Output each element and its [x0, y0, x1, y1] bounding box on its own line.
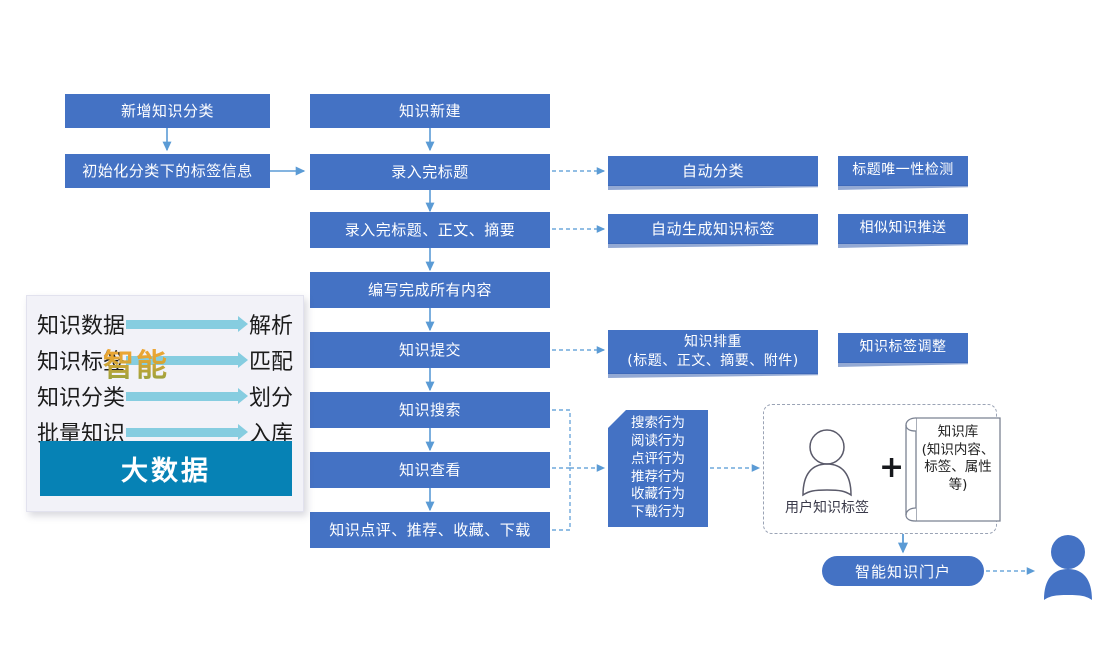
flow-box-label: 录入完标题: [391, 163, 469, 182]
panel-row-parse: 知识数据 解析: [37, 306, 293, 342]
flow-box-knowledge-view[interactable]: 知识查看: [310, 452, 550, 488]
flow-box-label: 知识新建: [399, 102, 461, 121]
flow-box-label: 知识搜索: [399, 401, 461, 420]
flow-box-all-content-written[interactable]: 编写完成所有内容: [310, 272, 550, 308]
flow-box-knowledge-dedup[interactable]: 知识排重 (标题、正文、摘要、附件): [608, 330, 818, 374]
kb-line: 标签、属性: [916, 459, 1000, 477]
flow-box-knowledge-rate-recommend-favorite-download[interactable]: 知识点评、推荐、收藏、下载: [310, 512, 550, 548]
behaviour-line: 搜索行为: [631, 415, 685, 433]
flow-box-knowledge-search[interactable]: 知识搜索: [310, 392, 550, 428]
flow-box-knowledge-tag-adjust[interactable]: 知识标签调整: [838, 333, 968, 363]
behaviour-line: 推荐行为: [631, 469, 685, 487]
end-user-filled-icon: [1044, 535, 1092, 600]
flow-box-label: 自动分类: [682, 162, 744, 181]
panel-bigdata-label: 大数据: [121, 449, 211, 488]
diagram-canvas: 新增知识分类 初始化分类下的标签信息 知识新建 录入完标题 录入完标题、正文、摘…: [0, 0, 1110, 649]
behaviour-line: 点评行为: [631, 451, 685, 469]
flow-box-label: 知识查看: [399, 461, 461, 480]
behaviour-line: 下载行为: [631, 504, 685, 522]
flow-box-title-body-abstract-entered[interactable]: 录入完标题、正文、摘要: [310, 212, 550, 248]
panel-row-output: 解析: [249, 308, 293, 340]
kb-line: (知识内容、: [916, 442, 1000, 460]
flow-box-label-line2: (标题、正文、摘要、附件): [627, 352, 798, 371]
flow-box-label: 初始化分类下的标签信息: [82, 162, 253, 181]
flow-box-label: 相似知识推送: [860, 220, 947, 238]
flow-box-title-uniqueness-check[interactable]: 标题唯一性检测: [838, 156, 968, 186]
panel-row-divide: 知识分类 划分: [37, 378, 293, 414]
panel-row-arrow-icon: [126, 317, 248, 331]
behaviour-line: 阅读行为: [631, 433, 685, 451]
flow-box-knowledge-create[interactable]: 知识新建: [310, 94, 550, 128]
panel-row-arrow-icon: [126, 353, 248, 367]
panel-row-input: 知识分类: [37, 380, 125, 412]
flow-box-label: 标题唯一性检测: [852, 162, 954, 180]
flow-box-label: 编写完成所有内容: [368, 281, 492, 300]
user-behaviour-box[interactable]: 搜索行为 阅读行为 点评行为 推荐行为 收藏行为 下载行为: [608, 410, 708, 527]
flow-box-init-category-tags[interactable]: 初始化分类下的标签信息: [65, 154, 270, 188]
plus-icon: +: [879, 450, 904, 485]
flow-box-label: 知识提交: [399, 341, 461, 360]
flow-box-add-knowledge-category[interactable]: 新增知识分类: [65, 94, 270, 128]
panel-row-output: 划分: [249, 380, 293, 412]
flow-box-knowledge-submit[interactable]: 知识提交: [310, 332, 550, 368]
flow-box-label: 新增知识分类: [121, 102, 214, 121]
flow-box-label: 自动生成知识标签: [651, 220, 775, 239]
smart-knowledge-portal-button[interactable]: 智能知识门户: [822, 556, 984, 586]
flow-box-label: 录入完标题、正文、摘要: [345, 221, 516, 240]
flow-box-label: 知识标签调整: [860, 339, 947, 357]
flow-box-auto-classify[interactable]: 自动分类: [608, 156, 818, 186]
portal-label: 智能知识门户: [855, 561, 951, 582]
panel-row-input: 知识标签: [37, 344, 125, 376]
behaviour-line: 收藏行为: [631, 486, 685, 504]
panel-row-output: 匹配: [249, 344, 293, 376]
flow-box-label: 知识点评、推荐、收藏、下载: [329, 521, 531, 540]
panel-row-input: 知识数据: [37, 308, 125, 340]
panel-row-match: 知识标签 匹配: [37, 342, 293, 378]
flow-box-auto-generate-tags[interactable]: 自动生成知识标签: [608, 214, 818, 244]
flow-box-label-line1: 知识排重: [684, 333, 742, 352]
kb-line: 等): [916, 477, 1000, 495]
panel-bigdata-banner: 大数据: [40, 441, 292, 496]
kb-line: 知识库: [916, 424, 1000, 442]
panel-row-arrow-icon: [126, 389, 248, 403]
user-knowledge-tag-label: 用户知识标签: [772, 497, 882, 517]
panel-row-arrow-icon: [126, 425, 248, 439]
flow-box-title-entered[interactable]: 录入完标题: [310, 154, 550, 190]
flow-box-similar-knowledge-push[interactable]: 相似知识推送: [838, 214, 968, 244]
knowledge-base-label: 知识库 (知识内容、 标签、属性 等): [916, 424, 1000, 494]
